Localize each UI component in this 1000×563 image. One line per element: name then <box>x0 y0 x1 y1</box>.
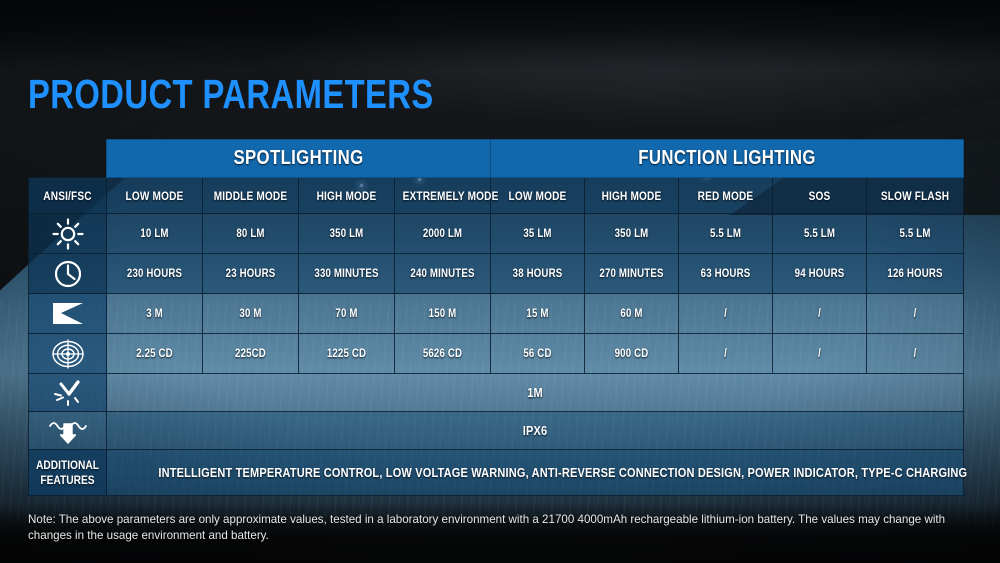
cell-distance-func-high: 60 M <box>585 294 679 334</box>
cell-intensity-func-high: 900 CD <box>585 334 679 374</box>
peak-intensity-icon <box>29 338 106 370</box>
row-icon-cell-runtime <box>29 254 107 294</box>
table-row-beam-distance: 3 M 30 M 70 M 150 M 15 M 60 M / / / <box>29 294 964 334</box>
cell-additional-features-value: INTELLIGENT TEMPERATURE CONTROL, LOW VOL… <box>107 450 964 496</box>
product-parameters-table: SPOTLIGHTING FUNCTION LIGHTING ANSI/FSC … <box>28 139 964 496</box>
beam-distance-icon <box>29 300 106 328</box>
table-row-luminous-flux: 10 LM 80 LM 350 LM 2000 LM 35 LM 350 LM … <box>29 214 964 254</box>
table-row-impact-resistance: 1M <box>29 374 964 412</box>
cell-distance-spot-extremely: 150 M <box>395 294 491 334</box>
cell-lm-spot-low: 10 LM <box>107 214 203 254</box>
cell-lm-red: 5.5 LM <box>679 214 773 254</box>
cell-distance-func-low: 15 M <box>491 294 585 334</box>
group-header-function-lighting: FUNCTION LIGHTING <box>491 140 964 178</box>
cell-impact-resistance-value: 1M <box>107 374 964 412</box>
sun-icon <box>29 217 106 251</box>
cell-lm-spot-high: 350 LM <box>299 214 395 254</box>
column-header-sos: SOS <box>773 178 867 214</box>
row-icon-cell-beam-distance <box>29 294 107 334</box>
water-resistance-icon <box>29 417 106 445</box>
cell-water-resistance-value: IPX6 <box>107 412 964 450</box>
cell-runtime-func-low: 38 HOURS <box>491 254 585 294</box>
group-header-spacer <box>29 140 107 178</box>
cell-intensity-spot-extremely: 5626 CD <box>395 334 491 374</box>
cell-lm-spot-extremely: 2000 LM <box>395 214 491 254</box>
column-header-func-low-mode: LOW MODE <box>491 178 585 214</box>
cell-distance-spot-low: 3 M <box>107 294 203 334</box>
cell-runtime-red: 63 HOURS <box>679 254 773 294</box>
row-icon-cell-impact-resistance <box>29 374 107 412</box>
group-header-spotlighting: SPOTLIGHTING <box>107 140 491 178</box>
cell-distance-spot-high: 70 M <box>299 294 395 334</box>
cell-distance-spot-middle: 30 M <box>203 294 299 334</box>
cell-intensity-sos: / <box>773 334 867 374</box>
cell-runtime-func-high: 270 MINUTES <box>585 254 679 294</box>
cell-runtime-slow-flash: 126 HOURS <box>867 254 964 294</box>
cell-runtime-spot-middle: 23 HOURS <box>203 254 299 294</box>
table-group-header-row: SPOTLIGHTING FUNCTION LIGHTING <box>29 140 964 178</box>
footnote: Note: The above parameters are only appr… <box>28 512 963 544</box>
cell-intensity-spot-high: 1225 CD <box>299 334 395 374</box>
column-header-spot-extremely-mode: EXTREMELY MODE <box>395 178 491 214</box>
cell-intensity-spot-low: 2.25 CD <box>107 334 203 374</box>
column-header-func-high-mode: HIGH MODE <box>585 178 679 214</box>
row-icon-cell-peak-intensity <box>29 334 107 374</box>
column-header-ansi-fsc: ANSI/FSC <box>29 178 107 214</box>
table-column-header-row: ANSI/FSC LOW MODE MIDDLE MODE HIGH MODE … <box>29 178 964 214</box>
column-header-slow-flash: SLOW FLASH <box>867 178 964 214</box>
column-header-spot-low-mode: LOW MODE <box>107 178 203 214</box>
additional-features-label: ADDITIONAL FEATURES <box>29 450 107 496</box>
cell-intensity-spot-middle: 225CD <box>203 334 299 374</box>
cell-runtime-spot-extremely: 240 MINUTES <box>395 254 491 294</box>
column-header-spot-middle-mode: MIDDLE MODE <box>203 178 299 214</box>
cell-intensity-func-low: 56 CD <box>491 334 585 374</box>
product-parameters-page: PRODUCT PARAMETERS SPOTLIGHTING FUNCTION… <box>0 0 1000 563</box>
row-icon-cell-water-resistance <box>29 412 107 450</box>
impact-resistance-icon <box>29 378 106 408</box>
cell-distance-slow-flash: / <box>867 294 964 334</box>
page-title: PRODUCT PARAMETERS <box>28 74 434 115</box>
cell-lm-func-high: 350 LM <box>585 214 679 254</box>
column-header-red-mode: RED MODE <box>679 178 773 214</box>
table-row-water-resistance: IPX6 <box>29 412 964 450</box>
row-icon-cell-luminous-flux <box>29 214 107 254</box>
clock-icon <box>29 257 106 291</box>
table-row-runtime: 230 HOURS 23 HOURS 330 MINUTES 240 MINUT… <box>29 254 964 294</box>
table-row-additional-features: ADDITIONAL FEATURES INTELLIGENT TEMPERAT… <box>29 450 964 496</box>
column-header-spot-high-mode: HIGH MODE <box>299 178 395 214</box>
cell-intensity-slow-flash: / <box>867 334 964 374</box>
cell-intensity-red: / <box>679 334 773 374</box>
cell-lm-func-low: 35 LM <box>491 214 585 254</box>
cell-runtime-spot-low: 230 HOURS <box>107 254 203 294</box>
cell-lm-slow-flash: 5.5 LM <box>867 214 964 254</box>
cell-distance-red: / <box>679 294 773 334</box>
table-row-peak-intensity: 2.25 CD 225CD 1225 CD 5626 CD 56 CD 900 … <box>29 334 964 374</box>
cell-runtime-spot-high: 330 MINUTES <box>299 254 395 294</box>
cell-lm-sos: 5.5 LM <box>773 214 867 254</box>
cell-runtime-sos: 94 HOURS <box>773 254 867 294</box>
cell-distance-sos: / <box>773 294 867 334</box>
cell-lm-spot-middle: 80 LM <box>203 214 299 254</box>
